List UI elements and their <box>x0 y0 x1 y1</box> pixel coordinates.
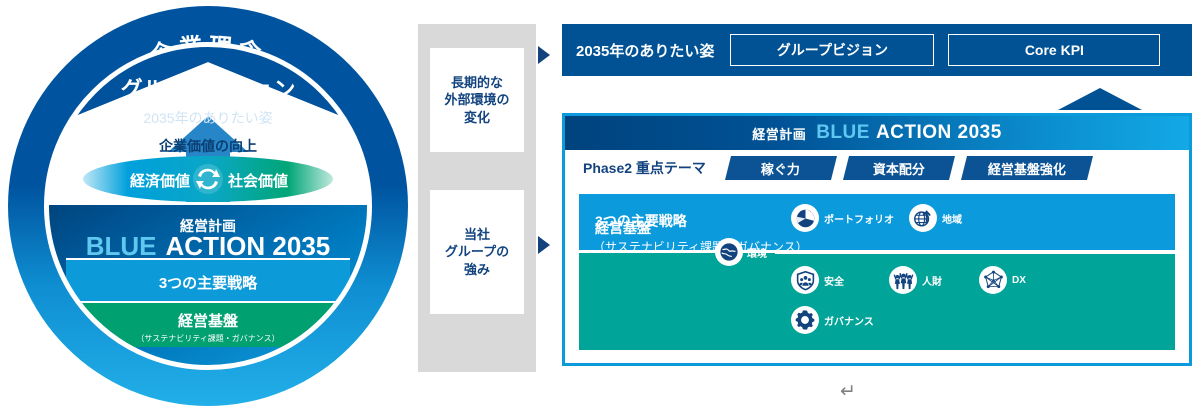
band-box-group-vision: グループビジョン <box>730 34 934 66</box>
circle-value-left: 経済価値 <box>130 172 190 190</box>
icon-item-label: ポートフォリオ <box>824 211 894 226</box>
vision-band: 2035年のありたい姿 グループビジョン Core KPI <box>562 24 1192 76</box>
icon-item-dx[interactable]: DX <box>979 266 1026 294</box>
return-arrow-icon: ↵ <box>840 382 856 401</box>
group-strength-line2: グループの <box>445 243 509 261</box>
circle-foundation-label: 経営基盤 <box>178 312 239 330</box>
theme-chip-label: 資本配分 <box>873 159 925 178</box>
triangle-right-arrow-icon <box>538 236 550 254</box>
phase-label: Phase2 重点テーマ <box>583 158 706 178</box>
network-nodes-icon <box>979 266 1007 294</box>
group-strength-line3: 強み <box>445 261 509 279</box>
icon-item-label: ガバナンス <box>824 313 874 328</box>
globe-grid-arrow-icon <box>909 204 937 232</box>
icon-item-environment[interactable]: 環境 <box>715 238 767 266</box>
theme-chip-capital-allocation[interactable]: 資本配分 <box>843 156 955 180</box>
management-foundation-block <box>579 253 1175 350</box>
circle-vision-sub: 2035年のありたい姿 <box>143 110 272 126</box>
group-strength-line1: 当社 <box>445 226 509 244</box>
environment-connector-line <box>775 252 1175 254</box>
management-plan-panel: 経営計画 BLUE ACTION 2035 Phase2 重点テーマ 稼ぐ力 資… <box>562 113 1192 366</box>
icon-item-label: 地域 <box>942 211 962 226</box>
icon-item-region[interactable]: 地域 <box>909 204 962 232</box>
icon-item-safety[interactable]: 安全 <box>791 266 844 294</box>
input-box-external-change: 長期的な 外部環境の 変化 <box>430 48 524 152</box>
globe-icon <box>715 238 743 266</box>
pie-chart-icon <box>791 204 819 232</box>
icon-item-governance[interactable]: ガバナンス <box>791 306 874 334</box>
diagram-stage: 企業理念 価値観・行動規範 <box>0 0 1200 411</box>
plan-header-blue-word: BLUE <box>816 122 870 144</box>
shield-people-icon <box>791 266 819 294</box>
plan-header: 経営計画 BLUE ACTION 2035 <box>565 116 1189 150</box>
triangle-right-arrow-icon <box>538 46 550 64</box>
icon-item-human-capital[interactable]: 人財 <box>889 266 942 294</box>
icon-item-label: 環境 <box>747 245 767 260</box>
input-box-group-strength: 当社 グループの 強み <box>430 190 524 314</box>
theme-chip-label: 稼ぐ力 <box>761 159 800 178</box>
chevron-up-icon <box>1058 88 1142 110</box>
theme-chip-foundation-strengthening[interactable]: 経営基盤強化 <box>961 156 1093 180</box>
icon-item-label: 安全 <box>824 273 844 288</box>
recycle-arrows-icon <box>193 164 223 194</box>
circle-foundation-sub: （サステナビリティ課題・ガバナンス） <box>136 333 279 343</box>
strategy-foundation-blocks: 3つの主要戦略 経営基盤 （サステナビリティ課題・ガバナンス） 環境 <box>579 194 1175 350</box>
icon-item-portfolio[interactable]: ポートフォリオ <box>791 204 894 232</box>
external-change-line3: 変化 <box>444 109 509 127</box>
plan-header-prefix: 経営計画 <box>752 124 806 143</box>
icon-item-label: DX <box>1012 275 1026 286</box>
management-foundation-title: 経営基盤 <box>595 218 651 238</box>
band-box-core-kpi: Core KPI <box>948 34 1160 66</box>
circle-plan-title: BLUEACTION 2035 <box>86 231 331 261</box>
theme-chip-label: 経営基盤強化 <box>988 159 1066 178</box>
phase-theme-row: Phase2 重点テーマ 稼ぐ力 資本配分 経営基盤強化 <box>565 150 1189 186</box>
vision-band-label: 2035年のありたい姿 <box>576 40 714 61</box>
corporate-philosophy-circle: 企業理念 価値観・行動規範 <box>8 2 408 411</box>
icon-item-label: 人財 <box>922 273 942 288</box>
theme-chip-earning-power[interactable]: 稼ぐ力 <box>725 156 837 180</box>
circle-strategy-label: 3つの主要戦略 <box>159 274 258 292</box>
plan-header-rest: ACTION 2035 <box>876 122 1002 144</box>
strategy-flow-diagram: 長期的な 外部環境の 変化 当社 グループの 強み 2035年のありたい姿 グル… <box>410 0 1200 411</box>
external-change-line2: 外部環境の <box>444 91 509 109</box>
people-raising-hands-icon <box>889 266 917 294</box>
circle-arrow-label: 企業価値の向上 <box>158 138 257 154</box>
external-change-line1: 長期的な <box>444 74 509 92</box>
gear-icon <box>791 306 819 334</box>
circle-value-right: 社会価値 <box>227 172 288 190</box>
circle-vision-title: グループビジョン <box>121 77 296 102</box>
